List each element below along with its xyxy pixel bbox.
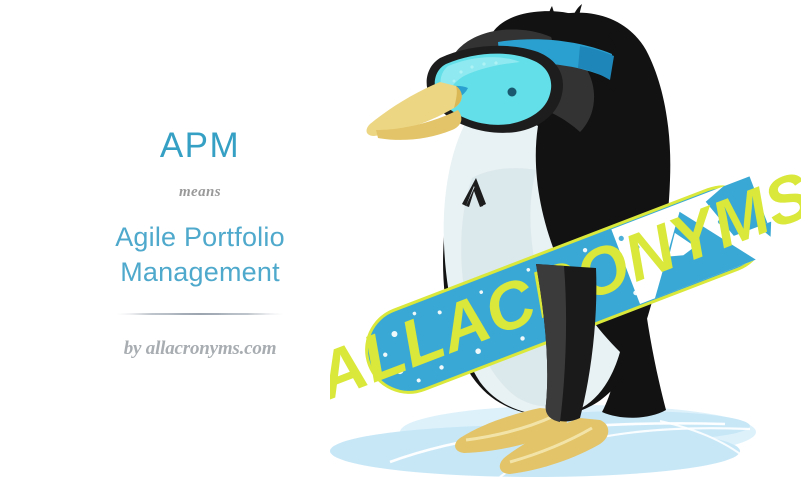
penguin-beak-icon: [367, 82, 462, 140]
horizontal-divider: [115, 313, 285, 315]
brand-attribution-link[interactable]: by allacronyms.com: [124, 339, 277, 358]
expansion-line-1: Agile Portfolio: [115, 220, 285, 255]
penguin-snowboarder-illustration: ALLACRONYMS: [330, 0, 801, 477]
acronym-definition-card: APM means Agile Portfolio Management by …: [0, 0, 801, 477]
means-connector-label: means: [179, 185, 221, 200]
acronym-expansion: Agile Portfolio Management: [115, 220, 285, 289]
acronym-title: APM: [160, 128, 240, 163]
expansion-line-2: Management: [115, 255, 285, 290]
